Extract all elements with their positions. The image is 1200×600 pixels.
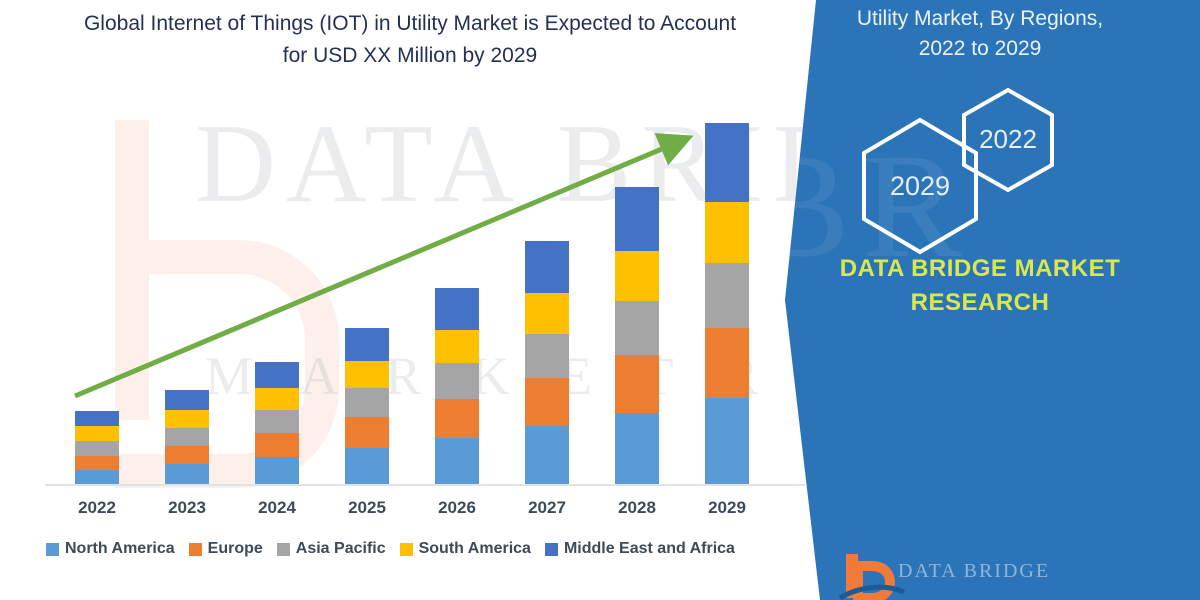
bar-segment: [255, 362, 299, 388]
logo-text: DATA BRIDGE: [898, 560, 1050, 583]
legend-swatch-icon: [400, 543, 413, 556]
bar-segment: [255, 457, 299, 484]
bar-segment: [435, 330, 479, 363]
bar-2029[interactable]: [705, 123, 749, 484]
bar-2022[interactable]: [75, 411, 119, 484]
bar-segment: [435, 399, 479, 438]
bar-segment: [525, 293, 569, 334]
bar-segment: [345, 417, 389, 448]
legend-swatch-icon: [277, 543, 290, 556]
bar-segment: [345, 448, 389, 484]
legend-item-0[interactable]: North America: [46, 540, 175, 558]
bar-segment: [705, 328, 749, 398]
bar-segment: [705, 123, 749, 202]
company-logo: DATA BRIDGE: [838, 552, 1068, 600]
legend-label: Europe: [208, 540, 263, 558]
hexagon-small-label: 2022: [979, 124, 1037, 154]
bar-segment: [525, 426, 569, 484]
x-tick-2023: 2023: [142, 498, 232, 518]
bar-segment: [345, 328, 389, 361]
legend-label: South America: [419, 540, 531, 558]
brand-line2: RESEARCH: [790, 286, 1170, 320]
logo-b-bowl: [858, 566, 890, 598]
hexagon-large-label: 2029: [890, 171, 950, 201]
x-axis-line: [45, 484, 805, 486]
x-tick-2027: 2027: [502, 498, 592, 518]
right-info-panel: BR R Utility Market, By Regions, 2022 to…: [760, 0, 1200, 600]
bar-2025[interactable]: [345, 328, 389, 484]
x-tick-2025: 2025: [322, 498, 412, 518]
bar-segment: [75, 456, 119, 470]
legend-item-2[interactable]: Asia Pacific: [277, 540, 386, 558]
x-tick-2022: 2022: [52, 498, 142, 518]
bar-segment: [615, 355, 659, 413]
bar-segment: [705, 398, 749, 484]
brand-name: DATA BRIDGE MARKET RESEARCH: [790, 252, 1170, 319]
bar-segment: [255, 388, 299, 410]
bar-segment: [435, 288, 479, 330]
bar-2026[interactable]: [435, 288, 479, 484]
brand-line1: DATA BRIDGE MARKET: [840, 255, 1121, 282]
legend-item-1[interactable]: Europe: [189, 540, 263, 558]
bar-segment: [705, 263, 749, 328]
bar-segment: [435, 363, 479, 399]
bar-segment: [165, 428, 209, 446]
infographic-canvas: DATA BRIDGE M A R K E T R E S E A R C H …: [0, 0, 1200, 600]
bar-segment: [255, 410, 299, 433]
legend-swatch-icon: [46, 543, 59, 556]
chart-plot-area: Global Internet of Things (IOT) in Utili…: [0, 0, 820, 600]
panel-title-line2: 2022 to 2029: [919, 37, 1042, 60]
legend-swatch-icon: [189, 543, 202, 556]
x-tick-2029: 2029: [682, 498, 772, 518]
panel-title-line1: Utility Market, By Regions,: [857, 7, 1103, 30]
bar-segment: [615, 251, 659, 301]
bar-segment: [525, 334, 569, 378]
legend-label: Asia Pacific: [296, 540, 386, 558]
legend-label: Middle East and Africa: [564, 540, 735, 558]
legend-item-4[interactable]: Middle East and Africa: [545, 540, 735, 558]
bar-segment: [345, 388, 389, 417]
bar-segment: [615, 187, 659, 251]
legend-item-3[interactable]: South America: [400, 540, 531, 558]
bar-segment: [615, 413, 659, 484]
bar-segment: [615, 301, 659, 355]
bar-segment: [75, 470, 119, 484]
x-tick-2026: 2026: [412, 498, 502, 518]
bar-segment: [705, 202, 749, 263]
bar-segment: [165, 464, 209, 484]
bar-segment: [165, 410, 209, 428]
page-title: Global Internet of Things (IOT) in Utili…: [70, 8, 750, 71]
bar-segment: [75, 411, 119, 426]
panel-title: Utility Market, By Regions, 2022 to 2029: [790, 4, 1170, 65]
bar-segment: [255, 433, 299, 457]
bar-segment: [165, 390, 209, 410]
bar-segment: [435, 438, 479, 484]
bar-2024[interactable]: [255, 362, 299, 484]
bar-segment: [75, 441, 119, 456]
x-tick-2024: 2024: [232, 498, 322, 518]
bar-segment: [525, 378, 569, 426]
bar-2027[interactable]: [525, 241, 569, 484]
legend-label: North America: [65, 540, 175, 558]
bar-2023[interactable]: [165, 390, 209, 484]
chart-legend: North AmericaEuropeAsia PacificSouth Ame…: [46, 540, 786, 558]
bar-2028[interactable]: [615, 187, 659, 484]
x-tick-2028: 2028: [592, 498, 682, 518]
bar-segment: [165, 446, 209, 464]
legend-swatch-icon: [545, 543, 558, 556]
bar-segment: [345, 361, 389, 388]
bar-segment: [75, 426, 119, 441]
bar-segment: [525, 241, 569, 293]
hexagon-group: 2022 2029: [800, 85, 1160, 265]
